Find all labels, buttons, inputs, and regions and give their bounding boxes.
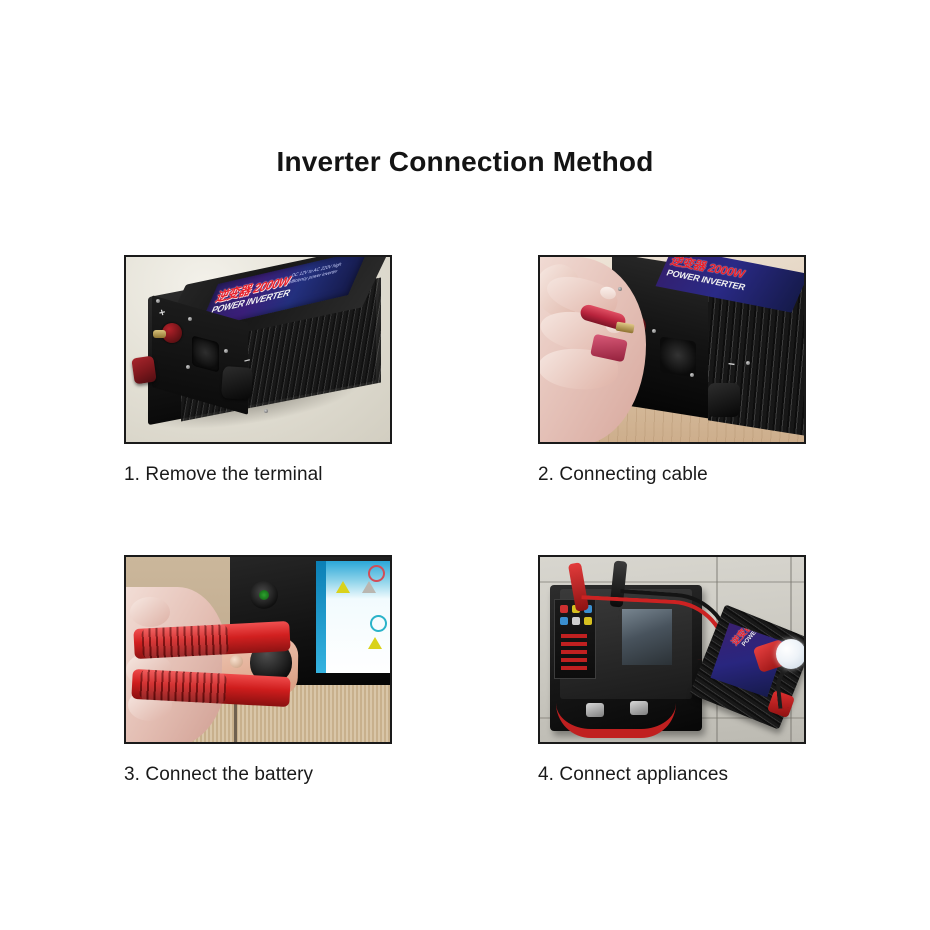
clamp-grip-ribs: [141, 624, 228, 658]
photo-connecting-cable: 逆变器 2000W POWER INVERTER + −: [538, 255, 806, 444]
clamp-grip-ribs: [139, 669, 226, 703]
warning-triangle-icon: [362, 581, 376, 593]
battery-label: [316, 561, 390, 673]
screw-icon: [618, 287, 622, 291]
label-bar: [561, 658, 587, 662]
knuckle: [130, 597, 170, 627]
label-bar: [561, 666, 587, 670]
light-bulb: [776, 639, 804, 669]
screw-icon: [188, 317, 192, 321]
red-jumper-cable: [556, 703, 676, 738]
cooling-fan-grille: [660, 336, 696, 377]
step-card-1: 逆变器 2000W POWER INVERTER DC 12V to AC 22…: [124, 255, 392, 486]
step-card-2: 逆变器 2000W POWER INVERTER + −: [538, 255, 806, 486]
clamp-pivot-pin: [230, 655, 243, 668]
screw-icon: [156, 299, 160, 303]
screw-icon: [224, 349, 228, 353]
negative-terminal-knob: [708, 383, 740, 417]
step-caption-1: 1. Remove the terminal: [124, 464, 392, 486]
photo-connect-appliances: 逆变器 2000W POWER INVERTER: [538, 555, 806, 744]
page-title: Inverter Connection Method: [0, 146, 930, 178]
warning-icon: [560, 605, 568, 613]
step-caption-2: 2. Connecting cable: [538, 464, 806, 486]
screw-icon: [746, 361, 750, 365]
step-card-4: 逆变器 2000W POWER INVERTER 4. Connect appl…: [538, 555, 806, 786]
warning-icon: [560, 617, 568, 625]
info-icon: [370, 615, 387, 632]
positive-terminal: [162, 323, 182, 343]
step-caption-3: 3. Connect the battery: [124, 764, 392, 786]
battery-charge-indicator: [250, 581, 278, 609]
step-card-3: 3. Connect the battery: [124, 555, 392, 786]
screw-icon: [652, 329, 656, 333]
page-root: Inverter Connection Method 逆变器 2000W POW…: [0, 0, 930, 930]
warning-icon: [572, 617, 580, 625]
screw-icon: [264, 409, 268, 413]
screw-icon: [690, 373, 694, 377]
prohibition-icon: [368, 565, 385, 582]
photo-remove-terminal: 逆变器 2000W POWER INVERTER DC 12V to AC 22…: [124, 255, 392, 444]
photo-connect-battery: [124, 555, 392, 744]
label-color-strip: [316, 561, 326, 673]
removed-terminal-cap: [131, 356, 156, 385]
warning-triangle-icon: [336, 581, 350, 593]
negative-terminal-knob: [221, 366, 253, 400]
step-caption-4: 4. Connect appliances: [538, 764, 806, 786]
screw-icon: [186, 365, 190, 369]
warning-triangle-icon: [368, 637, 382, 649]
